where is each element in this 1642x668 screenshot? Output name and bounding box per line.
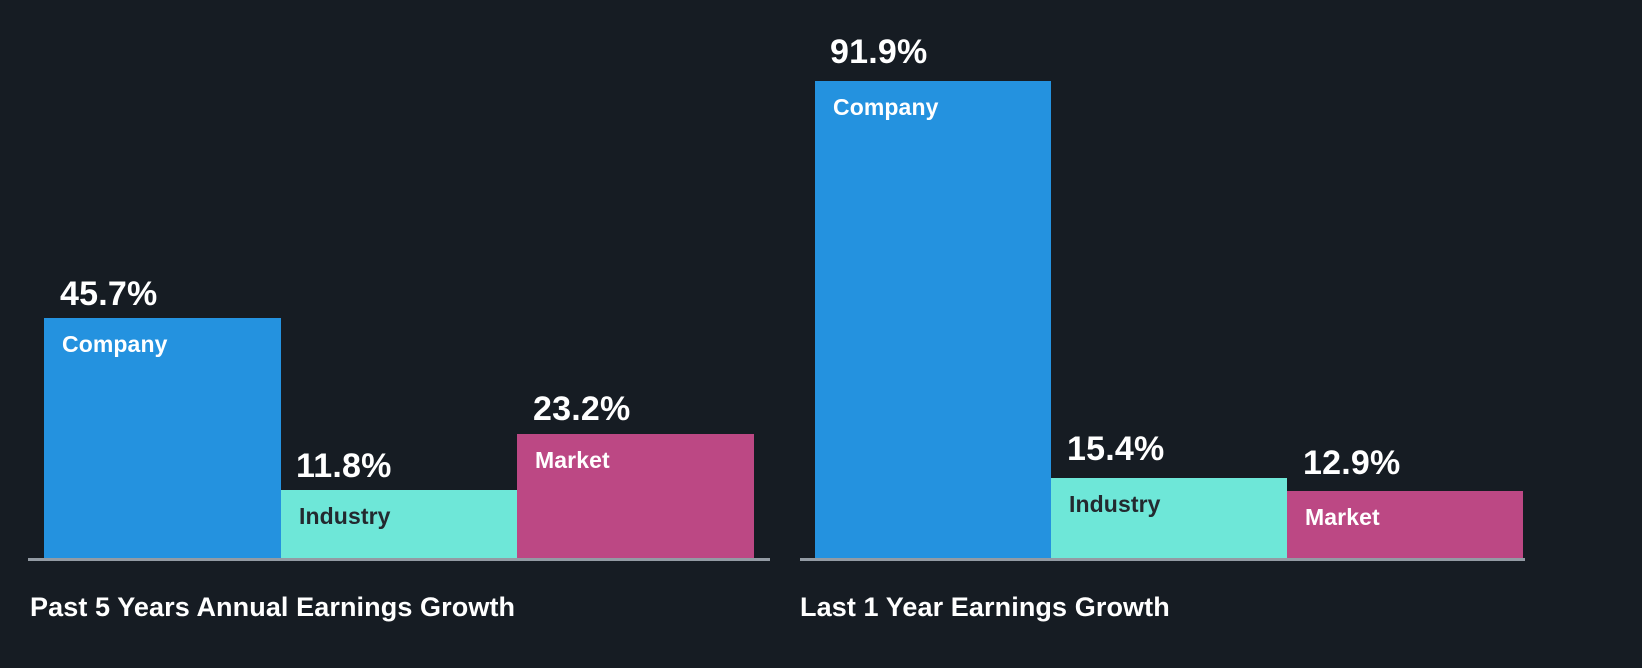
bar-company[interactable]: Company (815, 81, 1051, 558)
bar-industry[interactable]: Industry (1051, 478, 1287, 558)
value-label-market: 23.2% (533, 390, 630, 429)
bar-series-label-company: Company (833, 94, 939, 121)
earnings-growth-chart: 45.7% Company 11.8% Industry 23.2% Marke… (0, 0, 1642, 668)
value-label-market: 12.9% (1303, 444, 1400, 483)
plot-area-left: 45.7% Company 11.8% Industry 23.2% Marke… (0, 0, 810, 561)
value-label-industry: 15.4% (1067, 430, 1164, 469)
bar-series-label-market: Market (1305, 504, 1380, 531)
chart-panel-last-1-year: 91.9% Company 15.4% Industry 12.9% Marke… (800, 0, 1642, 668)
axis-baseline-right (800, 558, 1525, 561)
bar-company[interactable]: Company (44, 318, 281, 558)
bar-industry[interactable]: Industry (281, 490, 518, 558)
value-label-industry: 11.8% (296, 447, 392, 486)
chart-title-left: Past 5 Years Annual Earnings Growth (30, 592, 515, 623)
plot-area-right: 91.9% Company 15.4% Industry 12.9% Marke… (800, 0, 1642, 561)
value-label-company: 91.9% (830, 33, 927, 72)
bar-market[interactable]: Market (517, 434, 754, 558)
bar-market[interactable]: Market (1287, 491, 1523, 558)
chart-panel-past-5-years: 45.7% Company 11.8% Industry 23.2% Marke… (0, 0, 810, 668)
bar-series-label-company: Company (62, 331, 168, 358)
axis-baseline-left (28, 558, 770, 561)
value-label-company: 45.7% (60, 275, 157, 314)
bar-series-label-market: Market (535, 447, 610, 474)
bar-series-label-industry: Industry (299, 503, 391, 530)
bar-series-label-industry: Industry (1069, 491, 1161, 518)
chart-title-right: Last 1 Year Earnings Growth (800, 592, 1170, 623)
